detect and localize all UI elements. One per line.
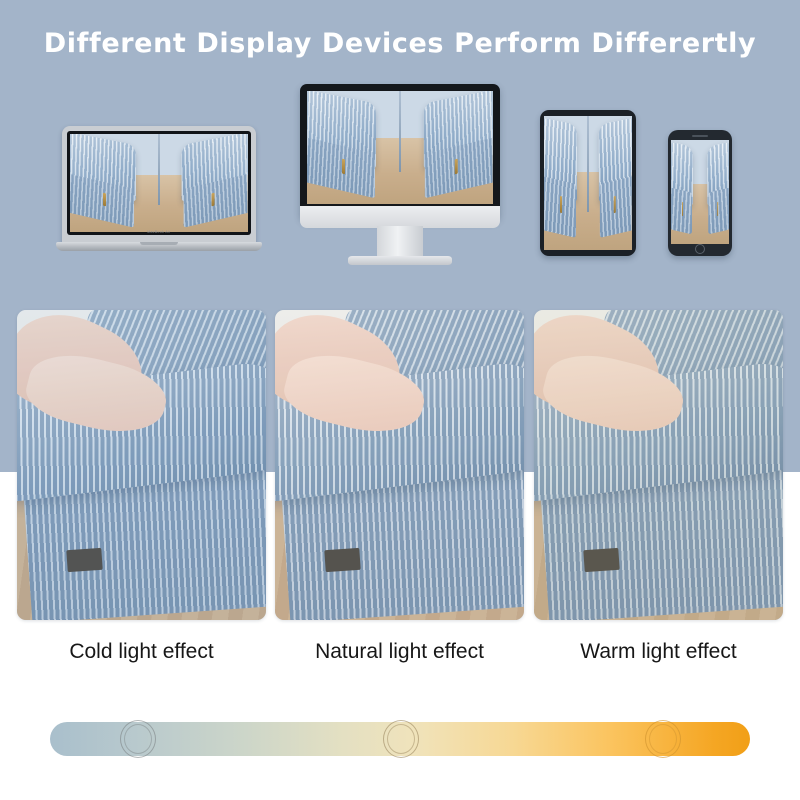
screen-sofa-left: [671, 140, 701, 244]
phone-speaker-icon: [692, 135, 708, 137]
laptop-brand-label: MacBook Air: [67, 230, 251, 234]
comparison-photos: [0, 310, 800, 620]
infographic-page: Different Display Devices Perform Differ…: [0, 0, 800, 800]
laptop-screen: [70, 134, 248, 232]
warm-tint-highlight: [534, 310, 783, 620]
screen-sofa-left: [544, 116, 590, 250]
photo-card-cold: [17, 310, 266, 620]
caption-natural-light: Natural light effect: [275, 640, 524, 664]
sofa-tag: [717, 202, 718, 216]
sofa-tag: [682, 202, 683, 216]
monitor-chin: [300, 206, 500, 228]
screen-sofa-right: [396, 91, 493, 204]
color-temperature-slider[interactable]: [50, 722, 750, 756]
monitor-frame: [300, 84, 500, 220]
page-title: Different Display Devices Perform Differ…: [0, 28, 800, 59]
slider-marker-warm[interactable]: [645, 720, 681, 758]
phone-home-button-icon[interactable]: [695, 244, 705, 254]
caption-warm-light: Warm light effect: [534, 640, 783, 664]
screen-sofa-right: [586, 116, 632, 250]
slider-marker-cold[interactable]: [120, 720, 156, 758]
sofa-tag: [342, 158, 345, 173]
screen-sofa-right: [155, 134, 248, 232]
laptop-lid: MacBook Air: [62, 126, 256, 244]
device-tablet: [540, 110, 636, 256]
slider-marker-natural[interactable]: [383, 720, 419, 758]
cold-tint-highlight: [17, 310, 266, 620]
phone-frame: [668, 130, 732, 256]
sofa-base: [708, 187, 729, 234]
natural-tint-highlight: [275, 310, 524, 620]
device-monitor: [300, 84, 500, 274]
photo-card-natural: [275, 310, 524, 620]
sofa-seam: [158, 134, 160, 205]
phone-screen: [671, 140, 729, 244]
sofa-seam: [399, 91, 401, 172]
sofa-tag: [211, 192, 214, 205]
sofa-base: [600, 176, 632, 237]
monitor-stand-neck: [377, 226, 423, 258]
screen-sofa-left: [70, 134, 163, 232]
photo-captions: Cold light effect Natural light effect W…: [0, 640, 800, 680]
photo-card-warm: [534, 310, 783, 620]
devices-row: MacBook Air: [0, 78, 800, 278]
monitor-stand-foot: [348, 256, 452, 265]
sofa-tag: [614, 196, 616, 214]
laptop-bezel: MacBook Air: [67, 131, 251, 235]
monitor-screen: [307, 91, 493, 204]
sofa-seam: [700, 140, 701, 215]
screen-sofa-right: [699, 140, 729, 244]
screen-sofa-left: [307, 91, 404, 204]
tablet-screen: [544, 116, 632, 250]
sofa-tag: [455, 158, 458, 173]
tablet-frame: [540, 110, 636, 256]
caption-cold-light: Cold light effect: [17, 640, 266, 664]
sofa-seam: [587, 116, 588, 212]
laptop-notch: [140, 242, 178, 245]
device-laptop: MacBook Air: [56, 126, 262, 266]
device-smartphone: [668, 130, 732, 256]
